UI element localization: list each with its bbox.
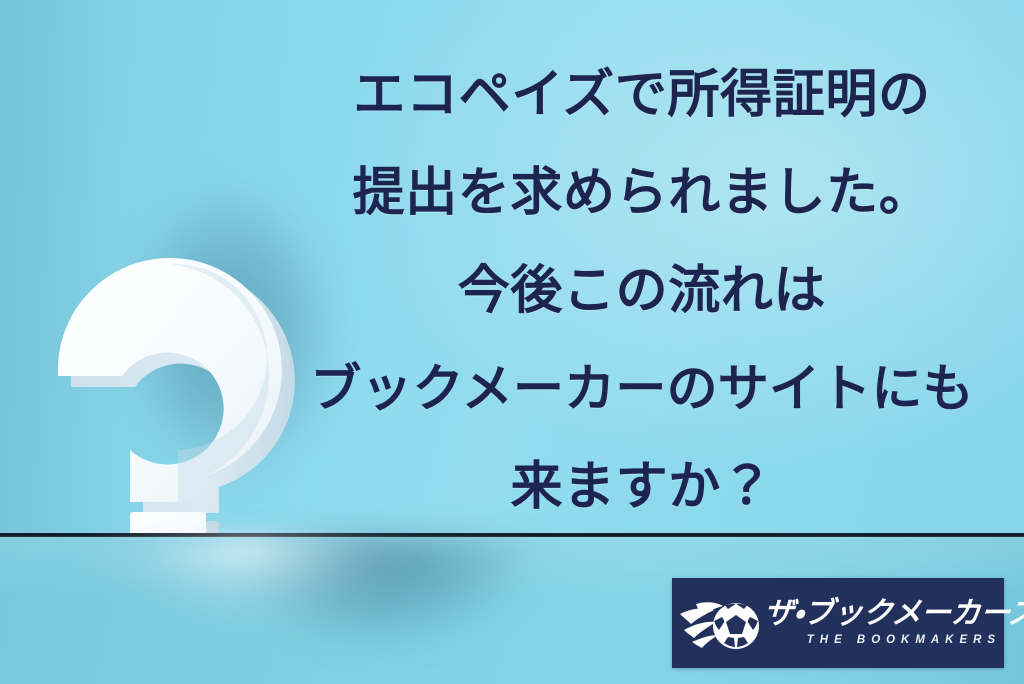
headline-line-4: ブックメーカーのサイトにも [286,340,998,438]
question-mark-sculpture [18,150,318,550]
brand-logo-text: ザ・ブックメーカーズ THE BOOKMAKERS [764,599,1024,647]
flaming-soccer-ball-icon [678,588,764,658]
brand-name-jp: ザ・ブックメーカーズ [763,599,1024,630]
headline-text: エコペイズで所得証明の 提出を求められました。 今後この流れは ブックメーカーの… [286,46,998,536]
brand-logo-badge[interactable]: ザ・ブックメーカーズ THE BOOKMAKERS [672,578,1004,668]
headline-line-1: エコペイズで所得証明の [286,46,998,144]
headline-line-2: 提出を求められました。 [286,144,998,242]
promo-banner: エコペイズで所得証明の 提出を求められました。 今後この流れは ブックメーカーの… [0,0,1024,684]
question-mark-icon [18,150,318,550]
headline-line-3: 今後この流れは [286,242,998,340]
brand-name-en: THE BOOKMAKERS [801,634,1001,647]
headline-line-5: 来ますか？ [286,438,998,536]
